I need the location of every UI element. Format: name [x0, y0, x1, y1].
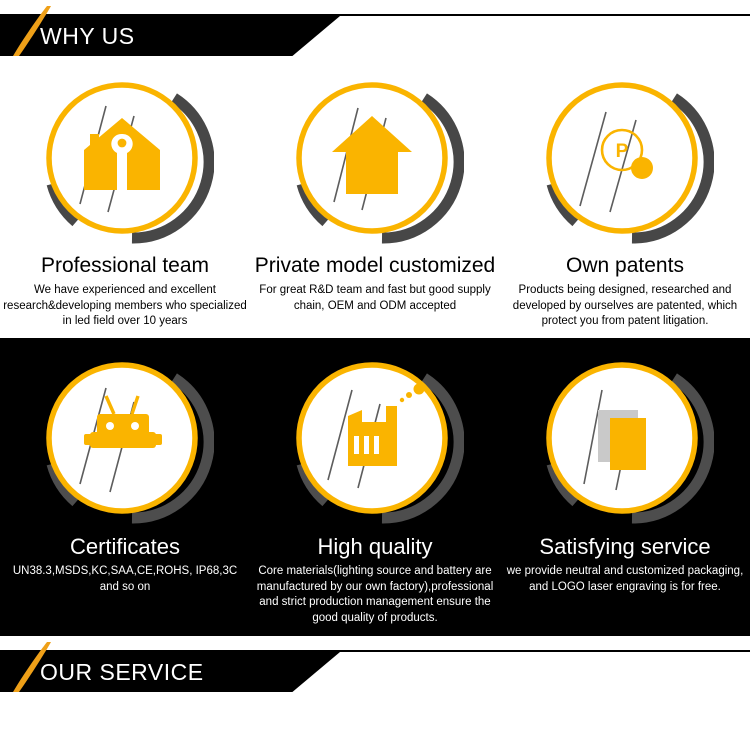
banner-title-why-us: WHY US: [40, 16, 135, 56]
feature-row-light: Professional team We have experienced an…: [0, 64, 750, 330]
icon-circle-1: [36, 72, 214, 250]
feature-cell-private-model: Private model customized For great R&D t…: [250, 64, 500, 330]
feature-description: Products being designed, researched and …: [500, 283, 750, 330]
feature-cell-high-quality: High quality Core materials(lighting sou…: [250, 344, 500, 626]
feature-description: we provide neutral and customized packag…: [500, 564, 750, 595]
icon-circle-4: [36, 352, 214, 530]
section-banner-why-us: WHY US: [0, 0, 750, 64]
feature-title: Certificates: [70, 534, 180, 559]
icon-circle-3: P: [536, 72, 714, 250]
feature-title: Private model customized: [255, 254, 495, 278]
section-banner-our-service: OUR SERVICE: [0, 636, 750, 700]
row-spacer-light: [0, 330, 750, 338]
feature-cell-satisfying-service: Satisfying service we provide neutral an…: [500, 344, 750, 626]
feature-title: Satisfying service: [539, 534, 710, 559]
feature-title: High quality: [318, 534, 433, 559]
feature-description: For great R&D team and fast but good sup…: [250, 283, 500, 314]
feature-description: We have experienced and excellent resear…: [0, 283, 250, 330]
feature-description: UN38.3,MSDS,KC,SAA,CE,ROHS, IP68,3C and …: [0, 564, 250, 595]
feature-description: Core materials(lighting source and batte…: [250, 564, 500, 626]
feature-title: Own patents: [566, 254, 684, 278]
icon-circle-5: [286, 352, 464, 530]
feature-cell-certificates: Certificates UN38.3,MSDS,KC,SAA,CE,ROHS,…: [0, 344, 250, 626]
feature-cell-own-patents: P Own patents Products being designed, r…: [500, 64, 750, 330]
feature-cell-professional-team: Professional team We have experienced an…: [0, 64, 250, 330]
feature-title: Professional team: [41, 254, 209, 278]
feature-row-dark: Certificates UN38.3,MSDS,KC,SAA,CE,ROHS,…: [0, 338, 750, 636]
banner-title-our-service: OUR SERVICE: [40, 652, 204, 692]
icon-circle-2: [286, 72, 464, 250]
icon-circle-6: [536, 352, 714, 530]
stacked-cards-glyph: [598, 410, 646, 470]
svg-text:P: P: [616, 141, 629, 162]
